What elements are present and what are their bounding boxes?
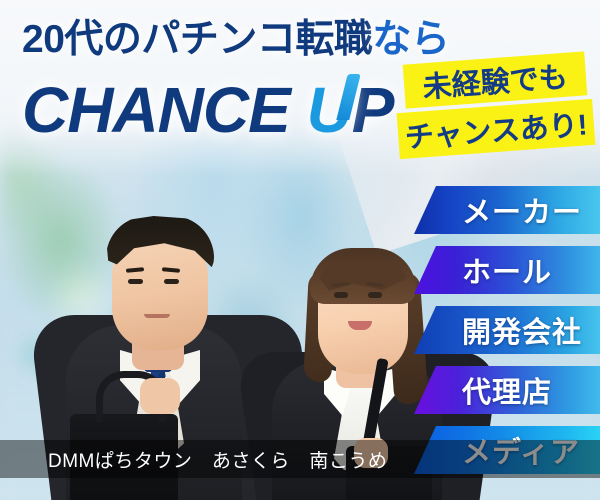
category-label: ホール: [462, 249, 552, 291]
caption-bar: DMMぱちタウン あさくら 南こうめ: [0, 440, 600, 478]
advertisement-banner: 20代のパチンコ転職なら CHANCE UP 未経験でも チャンスあり! メーカ…: [0, 0, 600, 500]
logo-letter-u: U: [307, 72, 352, 148]
caption-text: DMMぱちタウン あさくら 南こうめ: [48, 446, 387, 473]
category-button-agency[interactable]: 代理店: [414, 366, 600, 414]
category-button-development-company[interactable]: 開発会社: [414, 306, 600, 354]
man-mouth: [144, 314, 170, 318]
headline-suffix: なら: [372, 18, 449, 61]
category-button-maker[interactable]: メーカー: [414, 186, 600, 234]
category-label: メーカー: [462, 189, 582, 231]
woman-eye-left: [334, 292, 348, 298]
man-eye-left: [128, 279, 143, 284]
category-label: 開発会社: [462, 309, 582, 351]
chance-up-logo: CHANCE UP: [22, 72, 422, 148]
man-hand: [140, 378, 180, 414]
category-button-hall[interactable]: ホール: [414, 246, 600, 294]
category-label: 代理店: [462, 369, 552, 411]
headline: 20代のパチンコ転職なら: [22, 20, 452, 59]
headline-main: 20代のパチンコ転職: [22, 18, 372, 61]
man-eye-right: [164, 279, 179, 284]
woman-eye-right: [368, 292, 382, 298]
logo-text-chance: CHANCE: [22, 74, 307, 146]
